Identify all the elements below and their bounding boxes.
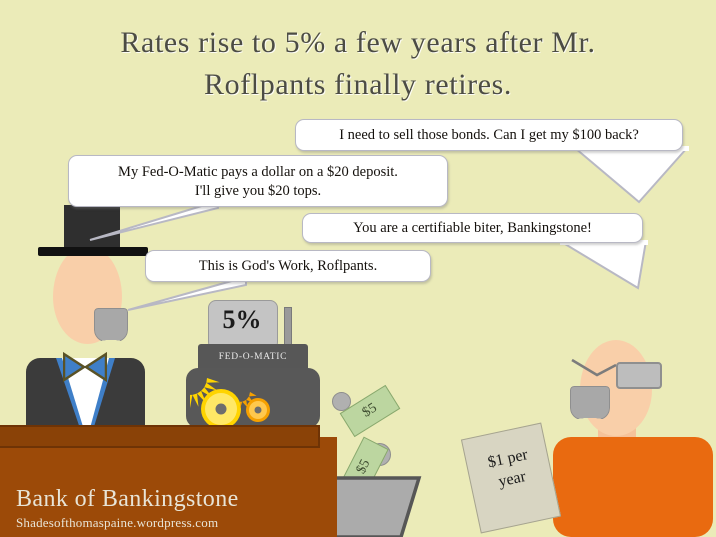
customer-glasses-icon xyxy=(616,362,662,389)
comic-scene: Rates rise to 5% a few years after Mr. R… xyxy=(0,0,716,537)
speech-bubble-banker-fedomatic: My Fed-O-Matic pays a dollar on a $20 de… xyxy=(68,155,448,207)
customer-torso xyxy=(553,437,713,537)
speech-text: I need to sell those bonds. Can I get my… xyxy=(339,127,639,143)
desk-counter-top xyxy=(0,425,320,448)
falling-bill: $5 xyxy=(340,385,401,437)
page-title: Rates rise to 5% a few years after Mr. R… xyxy=(0,22,716,106)
bank-url-label: Shadesofthomaspaine.wordpress.com xyxy=(16,515,336,531)
speech-text: You are a certifiable biter, Bankingston… xyxy=(353,220,592,236)
machine-antenna xyxy=(284,307,292,345)
speech-text-line-2: I'll give you $20 tops. xyxy=(81,182,435,201)
bank-name-label: Bank of Bankingstone xyxy=(16,486,316,513)
top-hat-brim xyxy=(38,247,148,256)
banker-bowtie xyxy=(63,352,107,382)
machine-nameplate-label: FED-O-MATIC xyxy=(198,352,308,362)
speech-text-line-1: My Fed-O-Matic pays a dollar on a $20 de… xyxy=(81,163,435,182)
speech-bubble-customer-bonds: I need to sell those bonds. Can I get my… xyxy=(295,119,683,151)
speech-bubble-banker-gods-work: This is God's Work, Roflpants. xyxy=(145,250,431,282)
speech-bubble-customer-biter: You are a certifiable biter, Bankingston… xyxy=(302,213,643,243)
speech-text: This is God's Work, Roflpants. xyxy=(199,258,377,274)
customer-eyebrow-icon xyxy=(570,358,620,378)
speech-tail-customer-bonds xyxy=(575,146,695,206)
customer-ear-icon xyxy=(570,386,610,420)
speech-tail-customer-biter xyxy=(560,240,670,292)
bill-denomination: $5 xyxy=(360,401,380,422)
gear-small-icon xyxy=(240,392,276,428)
page-title-line-1: Rates rise to 5% a few years after Mr. xyxy=(0,22,716,64)
banker-ear-icon xyxy=(94,308,128,342)
page-title-line-2: Roflpants finally retires. xyxy=(0,64,716,106)
